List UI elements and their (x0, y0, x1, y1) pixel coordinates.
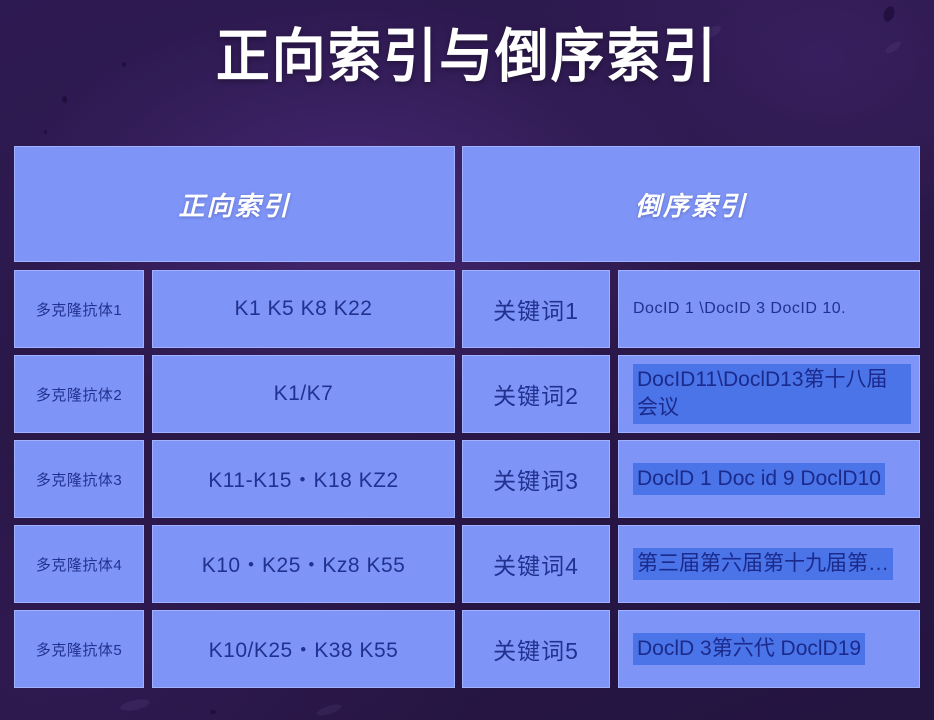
table-row[interactable]: 多克隆抗体4 K10・K25・Kz8 K55 (14, 525, 455, 603)
inverted-key-label: 关键词1 (493, 292, 579, 326)
forward-key-cell[interactable]: 多克隆抗体5 (14, 610, 144, 688)
inverted-value-cell[interactable]: 第三届第六届第十九届第… (618, 525, 920, 603)
forward-key-label: 多克隆抗体4 (36, 554, 122, 575)
inverted-value-cell[interactable]: DoclD 1 Doc id 9 DoclD10 (618, 440, 920, 518)
table-row[interactable]: 关键词2 DocID11\DoclD13第十八届会议 (462, 355, 920, 433)
index-comparison-tables: 正向索引 多克隆抗体1 K1 K5 K8 K22 多克隆抗体2 (14, 146, 920, 706)
forward-index-header: 正向索引 (14, 146, 455, 262)
inverted-value-cell[interactable]: DocID11\DoclD13第十八届会议 (618, 355, 920, 433)
inverted-value-cell[interactable]: DocID 1 \DocID 3 DocID 10. (618, 270, 920, 348)
forward-key-label: 多克隆抗体3 (36, 469, 122, 490)
forward-value-label: K10/K25・K38 K55 (209, 634, 399, 664)
inverted-value-highlight[interactable]: 第三届第六届第十九届第… (633, 548, 893, 580)
inverted-index-header: 倒序索引 (462, 146, 920, 262)
inverted-key-cell[interactable]: 关键词2 (462, 355, 610, 433)
inverted-value-label: DocID 1 \DocID 3 DocID 10. (633, 300, 846, 318)
forward-value-label: K10・K25・Kz8 K55 (202, 549, 406, 579)
inverted-value-highlight[interactable]: DoclD 3第六代 DoclD19 (633, 633, 865, 665)
forward-value-label: K1 K5 K8 K22 (235, 297, 373, 321)
inverted-value-highlight[interactable]: DocID11\DoclD13第十八届会议 (633, 364, 911, 423)
inverted-key-cell[interactable]: 关键词1 (462, 270, 610, 348)
forward-index-rows: 多克隆抗体1 K1 K5 K8 K22 多克隆抗体2 K1/K7 (14, 270, 455, 706)
forward-index-panel: 正向索引 多克隆抗体1 K1 K5 K8 K22 多克隆抗体2 (14, 146, 455, 706)
table-row[interactable]: 关键词4 第三届第六届第十九届第… (462, 525, 920, 603)
background-speck (62, 96, 67, 103)
background-speck (44, 130, 47, 134)
forward-value-cell[interactable]: K10/K25・K38 K55 (152, 610, 455, 688)
background-speck (210, 710, 216, 714)
forward-value-cell[interactable]: K1/K7 (152, 355, 455, 433)
forward-value-cell[interactable]: K10・K25・Kz8 K55 (152, 525, 455, 603)
table-row[interactable]: 多克隆抗体5 K10/K25・K38 K55 (14, 610, 455, 688)
forward-key-label: 多克隆抗体5 (36, 639, 122, 660)
inverted-index-panel: 倒序索引 关键词1 DocID 1 \DocID 3 DocID 10. 关键词… (462, 146, 920, 706)
forward-key-label: 多克隆抗体1 (36, 299, 122, 320)
forward-key-cell[interactable]: 多克隆抗体4 (14, 525, 144, 603)
table-row[interactable]: 关键词5 DoclD 3第六代 DoclD19 (462, 610, 920, 688)
inverted-key-label: 关键词4 (493, 547, 579, 581)
forward-value-label: K1/K7 (274, 382, 334, 406)
slide-canvas: 正向索引与倒序索引 正向索引 多克隆抗体1 K1 K5 K8 K22 多 (0, 0, 934, 720)
inverted-value-highlight[interactable]: DoclD 1 Doc id 9 DoclD10 (633, 463, 885, 495)
forward-key-cell[interactable]: 多克隆抗体3 (14, 440, 144, 518)
forward-value-cell[interactable]: K11-K15・K18 KZ2 (152, 440, 455, 518)
forward-value-label: K11-K15・K18 KZ2 (208, 464, 398, 494)
forward-index-header-label: 正向索引 (178, 186, 290, 223)
inverted-index-rows: 关键词1 DocID 1 \DocID 3 DocID 10. 关键词2 Doc… (462, 270, 920, 706)
forward-key-cell[interactable]: 多克隆抗体2 (14, 355, 144, 433)
table-row[interactable]: 多克隆抗体2 K1/K7 (14, 355, 455, 433)
table-row[interactable]: 多克隆抗体1 K1 K5 K8 K22 (14, 270, 455, 348)
inverted-key-label: 关键词2 (493, 377, 579, 411)
inverted-key-cell[interactable]: 关键词4 (462, 525, 610, 603)
table-row[interactable]: 多克隆抗体3 K11-K15・K18 KZ2 (14, 440, 455, 518)
inverted-key-label: 关键词3 (493, 462, 579, 496)
inverted-key-label: 关键词5 (493, 632, 579, 666)
page-title: 正向索引与倒序索引 (33, 18, 902, 96)
inverted-value-cell[interactable]: DoclD 3第六代 DoclD19 (618, 610, 920, 688)
forward-key-cell[interactable]: 多克隆抗体1 (14, 270, 144, 348)
table-row[interactable]: 关键词1 DocID 1 \DocID 3 DocID 10. (462, 270, 920, 348)
inverted-key-cell[interactable]: 关键词3 (462, 440, 610, 518)
table-row[interactable]: 关键词3 DoclD 1 Doc id 9 DoclD10 (462, 440, 920, 518)
forward-value-cell[interactable]: K1 K5 K8 K22 (152, 270, 455, 348)
inverted-key-cell[interactable]: 关键词5 (462, 610, 610, 688)
forward-key-label: 多克隆抗体2 (36, 384, 122, 405)
inverted-index-header-label: 倒序索引 (635, 186, 747, 223)
